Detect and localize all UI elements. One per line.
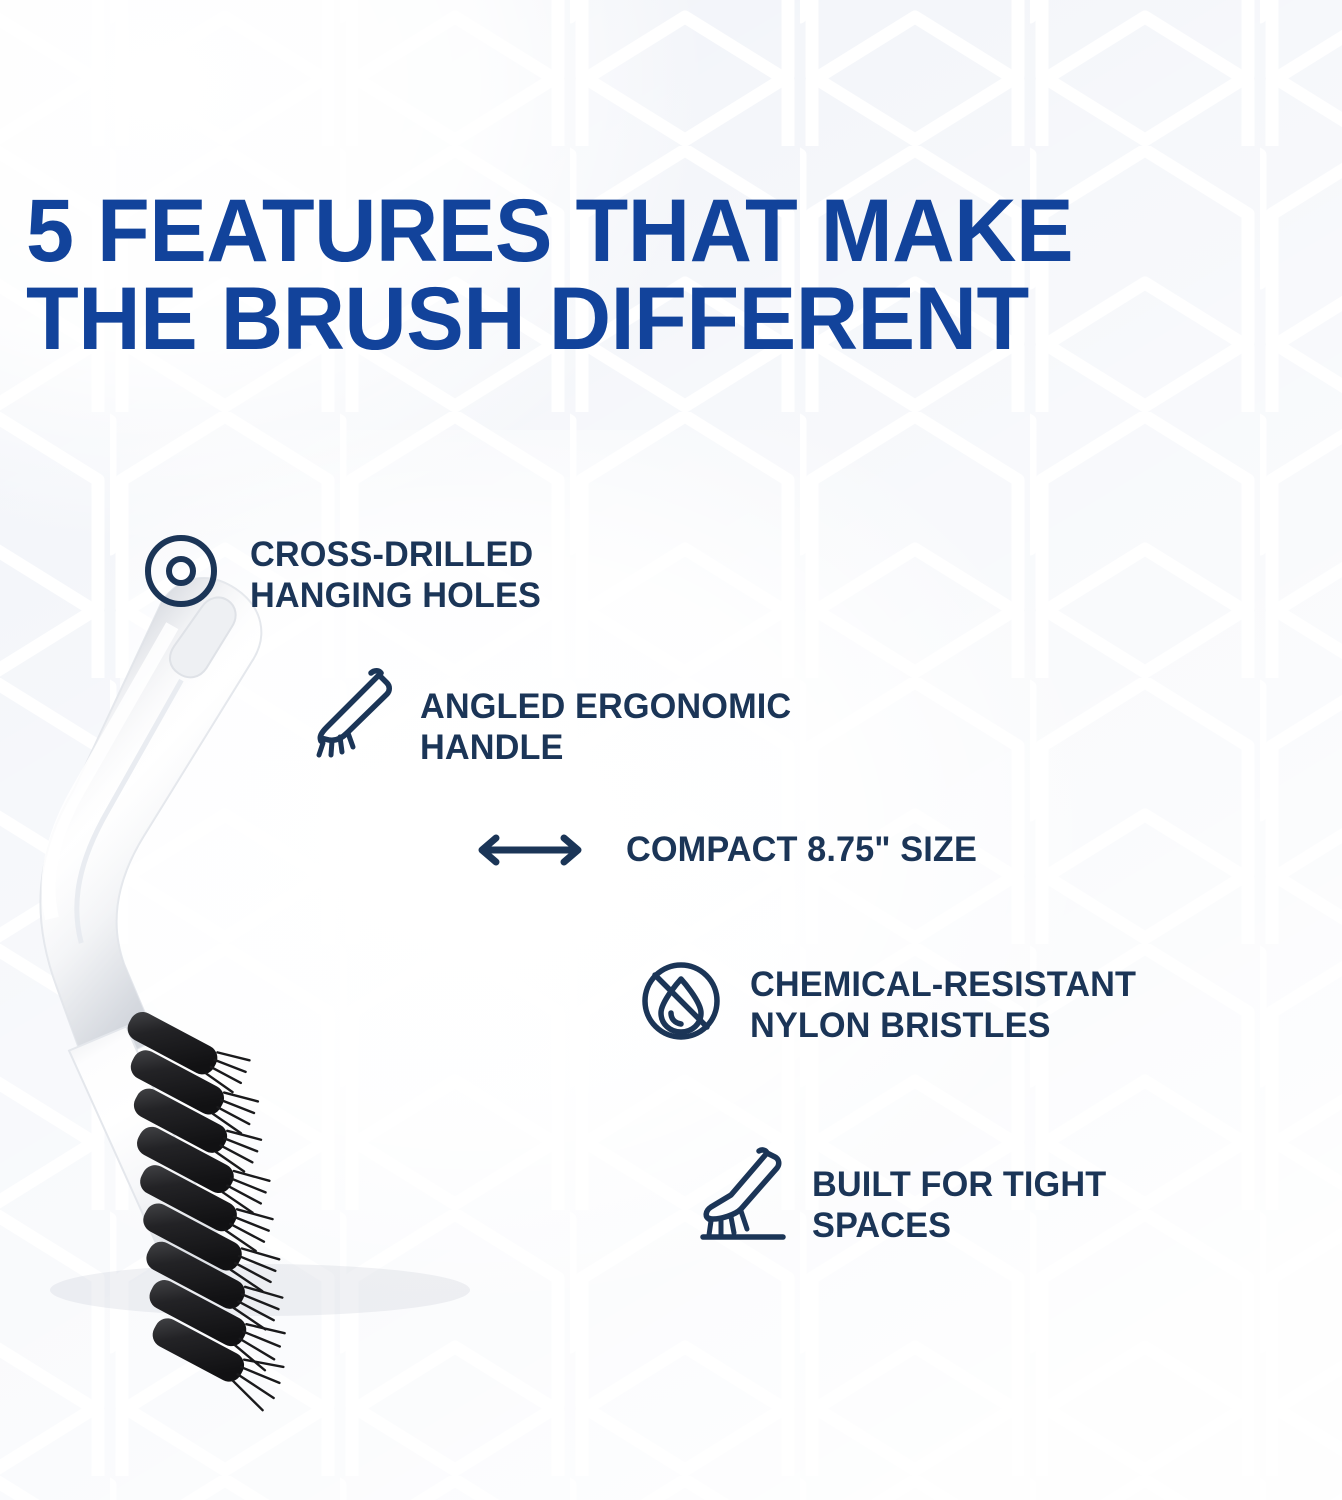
feature-item-compact-size: COMPACT 8.75" SIZE (470, 826, 984, 874)
feature-label: COMPACT 8.75" SIZE (626, 829, 977, 870)
feature-label: BUILT FOR TIGHT SPACES (812, 1152, 1106, 1247)
feature-label: ANGLED ERGONOMIC HANDLE (420, 670, 791, 769)
feature-item-angled-handle: ANGLED ERGONOMIC HANDLE (308, 670, 799, 769)
feature-label: CHEMICAL-RESISTANT NYLON BRISTLES (750, 958, 1136, 1047)
page-title: 5 FEATURES THAT MAKE THE BRUSH DIFFERENT (26, 186, 1190, 362)
feature-label: CROSS-DRILLED HANGING HOLES (250, 528, 541, 617)
no-liquid-droplet-icon (638, 958, 724, 1044)
brush-on-surface-icon (700, 1152, 786, 1238)
angled-brush-icon (308, 670, 394, 756)
feature-item-chemical-resistant: CHEMICAL-RESISTANT NYLON BRISTLES (638, 958, 1144, 1047)
feature-item-hanging-holes: CROSS-DRILLED HANGING HOLES (138, 528, 547, 617)
feature-item-tight-spaces: BUILT FOR TIGHT SPACES (700, 1152, 1112, 1247)
double-arrow-icon (470, 826, 590, 874)
hanging-hole-icon (138, 528, 224, 614)
product-feature-infographic: 5 FEATURES THAT MAKE THE BRUSH DIFFERENT (0, 0, 1342, 1500)
